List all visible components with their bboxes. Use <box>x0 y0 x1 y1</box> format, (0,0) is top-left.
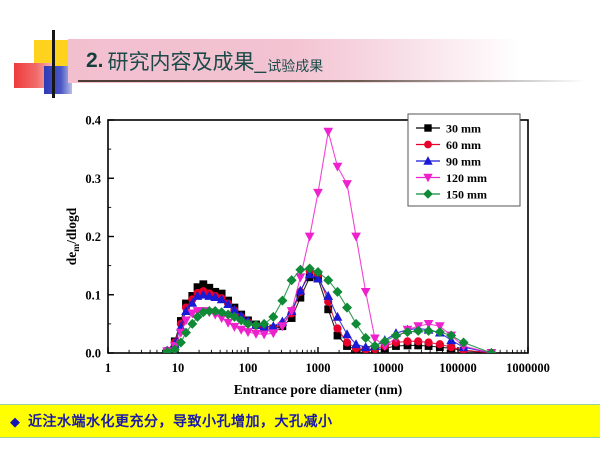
y-tick-label: 0.2 <box>85 230 101 244</box>
data-marker <box>448 344 455 351</box>
data-marker <box>269 313 278 322</box>
data-marker <box>404 338 411 345</box>
y-tick-label: 0.4 <box>85 114 101 128</box>
data-marker <box>278 296 287 305</box>
logo-vertical-bar <box>52 30 55 98</box>
data-marker <box>334 163 342 170</box>
y-tick-label: 0.0 <box>85 347 101 361</box>
data-marker <box>314 189 322 196</box>
title-main-text: 研究内容及成果_ <box>108 46 267 76</box>
data-marker <box>324 128 332 135</box>
page-title: 2. 研究内容及成果_ 试验成果 <box>86 43 323 79</box>
diamond-bullet-icon: ◆ <box>10 415 20 428</box>
data-marker <box>343 181 351 188</box>
data-marker <box>334 313 342 320</box>
title-sub-text: 试验成果 <box>267 56 323 79</box>
data-marker <box>343 330 351 337</box>
svg-text:dem/dlogd: dem/dlogd <box>64 207 82 265</box>
legend-label: 150 mm <box>446 187 487 201</box>
title-underline <box>78 80 586 82</box>
legend-label: 120 mm <box>446 171 487 185</box>
data-marker <box>424 327 433 336</box>
data-marker <box>425 125 431 131</box>
data-marker <box>414 327 423 336</box>
y-axis-title: dem/dlogd <box>64 207 82 265</box>
conclusion-banner: ◆ 近注水端水化更充分，导致小孔增加，大孔减小 <box>0 404 600 438</box>
x-tick-label: 100 <box>239 361 258 375</box>
title-number: 2. <box>86 49 104 73</box>
legend-label: 60 mm <box>446 138 481 152</box>
x-tick-label: 1 <box>105 361 111 375</box>
data-marker <box>296 274 304 281</box>
data-marker <box>306 233 314 240</box>
y-tick-label: 0.3 <box>85 172 101 186</box>
legend-label: 90 mm <box>446 154 481 168</box>
data-marker <box>334 325 341 332</box>
data-marker <box>425 141 432 148</box>
conclusion-text: 近注水端水化更充分，导致小孔增加，大孔减小 <box>28 411 333 431</box>
chart-svg: 11010010001000010000010000000.00.10.20.3… <box>56 104 556 400</box>
x-tick-label: 1000 <box>306 361 331 375</box>
data-marker <box>352 320 361 329</box>
y-tick-label: 0.1 <box>85 288 101 302</box>
data-marker <box>425 339 432 346</box>
x-axis-title: Entrance pore diameter (nm) <box>234 382 403 397</box>
x-tick-label: 100000 <box>439 361 477 375</box>
x-tick-label: 1000000 <box>506 361 550 375</box>
chart-legend: 30 mm60 mm90 mm120 mm150 mm <box>408 114 520 206</box>
data-marker <box>334 332 341 339</box>
data-marker <box>436 341 443 348</box>
data-marker <box>188 320 197 329</box>
data-marker <box>343 339 350 346</box>
data-marker <box>343 303 352 312</box>
pore-size-distribution-chart: 11010010001000010000010000000.00.10.20.3… <box>56 104 556 400</box>
legend-label: 30 mm <box>446 121 481 135</box>
x-tick-label: 10000 <box>372 361 403 375</box>
x-tick-label: 10 <box>172 361 185 375</box>
data-marker <box>362 288 370 295</box>
data-marker <box>352 233 360 240</box>
data-marker <box>237 326 245 333</box>
data-marker <box>415 338 422 345</box>
